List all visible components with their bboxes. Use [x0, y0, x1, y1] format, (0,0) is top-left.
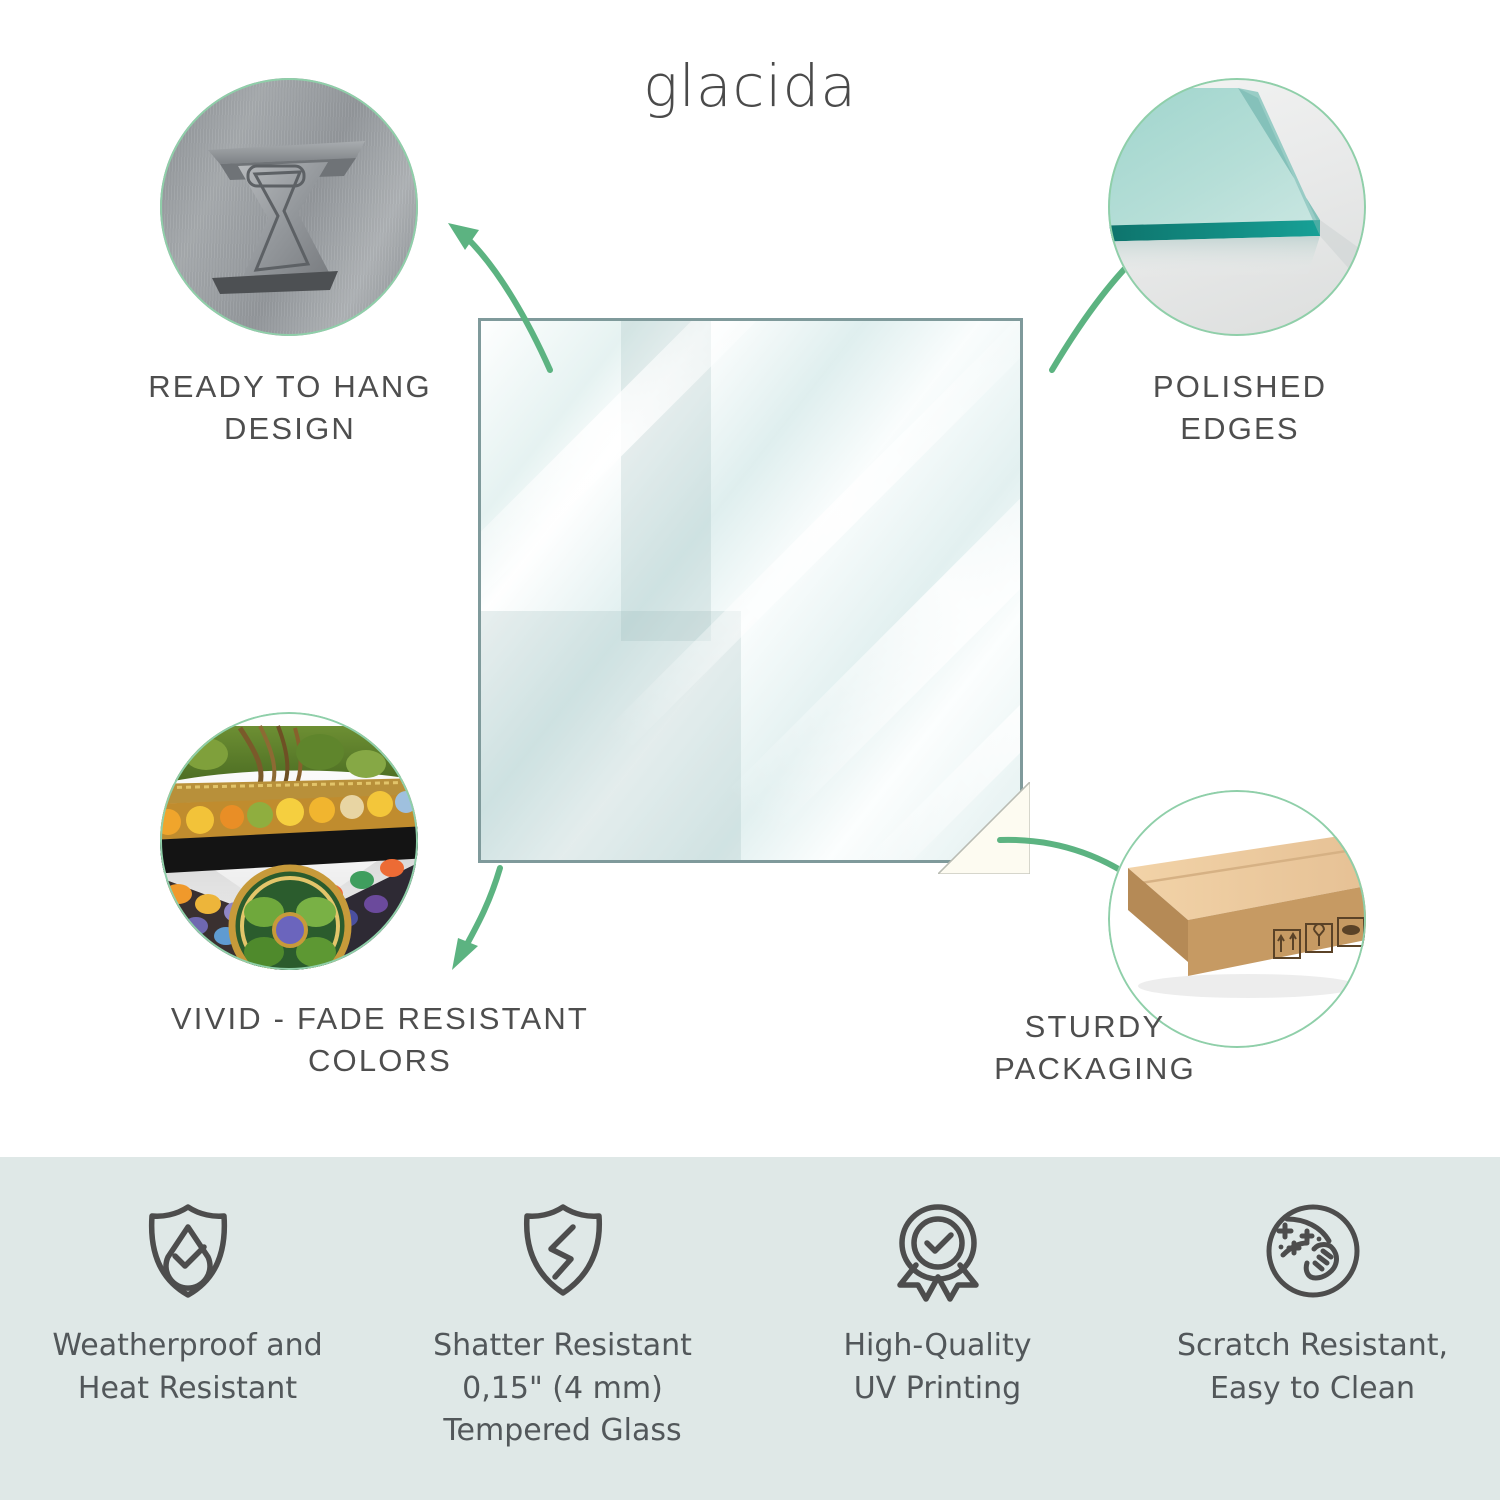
- arrow-to-vivid-colors: [430, 862, 610, 992]
- benefit-shatter-resistant: Shatter Resistant 0,15" (4 mm) Tempered …: [375, 1157, 750, 1500]
- benefit-shatter-resistant-text: Shatter Resistant 0,15" (4 mm) Tempered …: [433, 1325, 692, 1453]
- hand-wiping-sparkle-icon: [1261, 1199, 1365, 1303]
- feature-image-vivid-colors: [160, 712, 418, 970]
- benefit-scratch-resistant: Scratch Resistant, Easy to Clean: [1125, 1157, 1500, 1500]
- feature-label-ready-to-hang: READY TO HANGDESIGN: [40, 366, 540, 450]
- benefit-weatherproof: Weatherproof and Heat Resistant: [0, 1157, 375, 1500]
- benefits-band: Weatherproof and Heat Resistant Shatter …: [0, 1157, 1500, 1500]
- feature-label-sturdy-packaging: STURDYPACKAGING: [880, 1006, 1310, 1090]
- feature-label-polished-edges: POLISHEDEDGES: [990, 366, 1490, 450]
- feature-ring-vivid-colors: [160, 712, 418, 970]
- feature-image-ready-to-hang: [160, 78, 418, 336]
- award-badge-check-icon: [886, 1199, 990, 1303]
- feature-ring-polished-edges: [1108, 78, 1366, 336]
- feature-ring-ready-to-hang: [160, 78, 418, 336]
- benefit-uv-printing: High-Quality UV Printing: [750, 1157, 1125, 1500]
- shield-water-drop-check-icon: [136, 1199, 240, 1303]
- benefit-weatherproof-text: Weatherproof and Heat Resistant: [52, 1325, 322, 1410]
- arrow-to-ready-to-hang: [430, 195, 660, 375]
- feature-image-polished-edges: [1108, 78, 1366, 336]
- feature-label-vivid-colors: VIVID - FADE RESISTANTCOLORS: [30, 998, 730, 1082]
- benefit-uv-printing-text: High-Quality UV Printing: [843, 1325, 1031, 1410]
- benefit-scratch-resistant-text: Scratch Resistant, Easy to Clean: [1177, 1325, 1448, 1410]
- shield-lightning-bolt-icon: [511, 1199, 615, 1303]
